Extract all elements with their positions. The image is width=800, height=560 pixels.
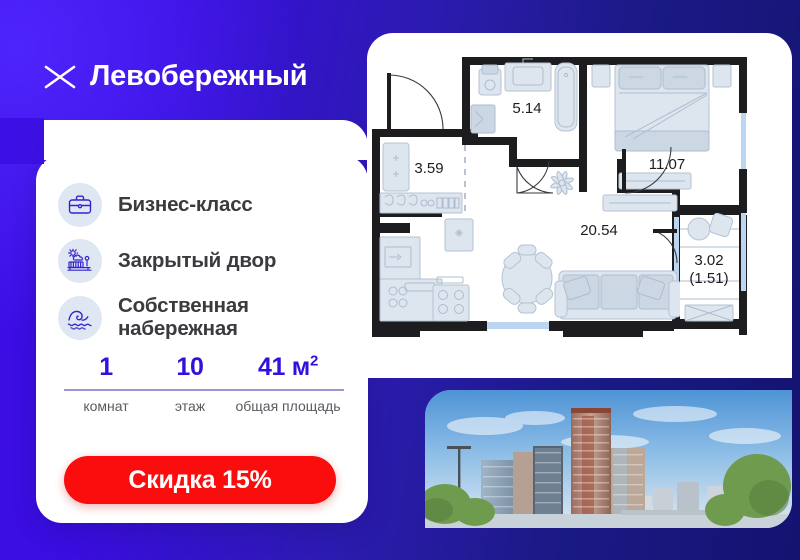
feature-label: Закрытый двор [118, 250, 276, 273]
room-label-hallway: 3.59 [414, 160, 443, 177]
card-notch [36, 120, 368, 160]
courtyard-icon [58, 239, 102, 283]
stat-value-superscript: 2 [310, 353, 318, 370]
feature-item-embankment: Собственная набережная [58, 295, 348, 341]
room-label-bathroom: 5.14 [512, 100, 541, 117]
stat-label-floor: этаж [148, 398, 232, 416]
floor-plan-drawing: .wall{fill:#1d1d1f;} .furn{fill:#ccd7e4;… [367, 33, 792, 378]
room-label-balcony-coefficient: (1.51) [689, 270, 728, 287]
briefcase-icon [58, 183, 102, 227]
room-label-balcony-area: 3.02 [694, 252, 723, 269]
stats-block: 1 10 41 м2 комнат этаж общая площадь [64, 355, 344, 416]
wave-icon [58, 296, 102, 340]
room-label-living-kitchen: 20.54 [580, 222, 618, 239]
stat-value-rooms: 1 [64, 355, 148, 380]
stat-value-text: 41 м [258, 353, 310, 381]
features-list: Бизнес-класс Закрытый двор [58, 183, 348, 353]
room-label-bedroom: 11.07 [649, 156, 685, 173]
feature-label: Бизнес-класс [118, 194, 253, 217]
stats-values-row: 1 10 41 м2 [64, 355, 344, 380]
card-notch-cut [0, 118, 44, 164]
stats-labels-row: комнат этаж общая площадь [64, 398, 344, 416]
stat-label-area: общая площадь [232, 398, 344, 416]
stat-value-floor: 10 [148, 355, 232, 380]
discount-button[interactable]: Скидка 15% [64, 456, 336, 504]
stat-value-area: 41 м2 [232, 355, 344, 380]
feature-item-business-class: Бизнес-класс [58, 183, 348, 227]
brand-name: Левобережный [90, 62, 307, 91]
feature-label: Собственная набережная [118, 295, 348, 341]
stats-divider [64, 389, 344, 391]
stat-value-text: 10 [176, 353, 203, 381]
brand-logo[interactable]: Левобережный [44, 62, 307, 91]
building-photo-image [425, 390, 792, 528]
promo-card: Левобережный Бизнес-класс [0, 0, 800, 560]
feature-item-closed-courtyard: Закрытый двор [58, 239, 348, 283]
floor-plan-card[interactable]: .wall{fill:#1d1d1f;} .furn{fill:#ccd7e4;… [367, 33, 792, 378]
x-mark-icon [44, 64, 78, 90]
stat-label-rooms: комнат [64, 398, 148, 416]
building-photo[interactable] [425, 390, 792, 528]
stat-value-text: 1 [99, 353, 113, 381]
